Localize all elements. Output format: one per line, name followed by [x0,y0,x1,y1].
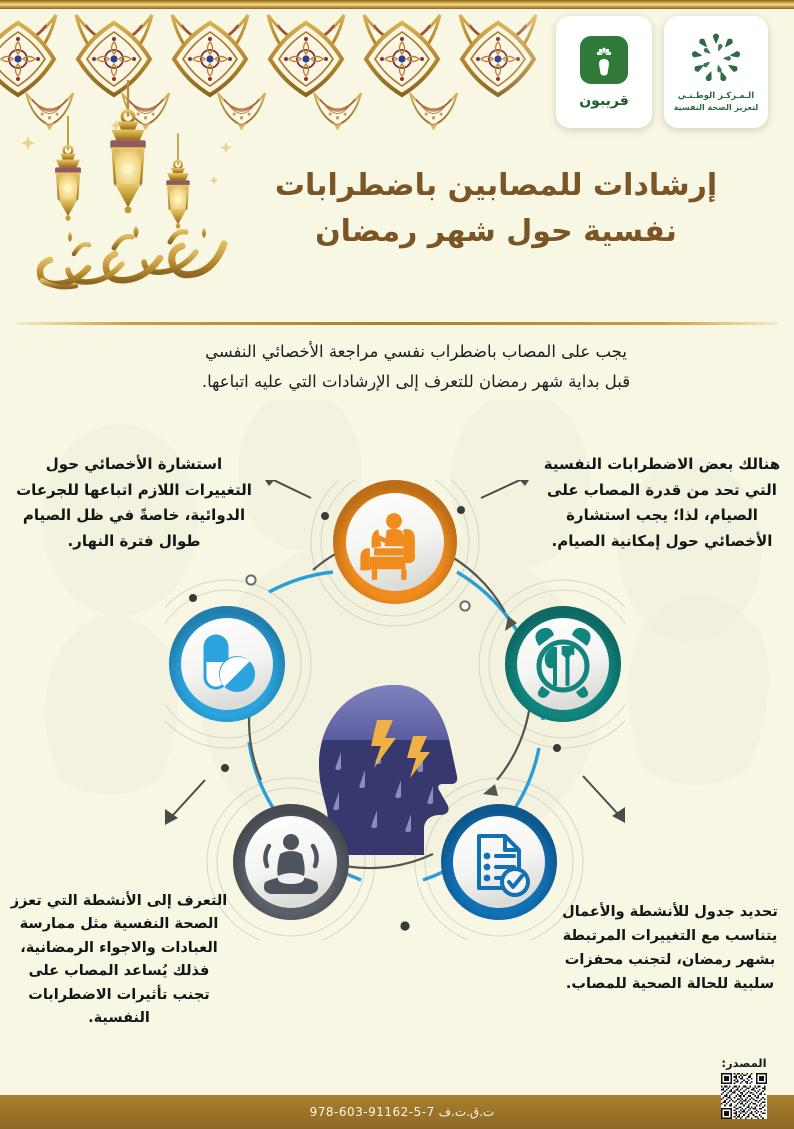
node-meal-timing[interactable] [505,606,621,722]
qareeboon-tile [580,36,628,84]
guidance-block-top-right: هنالك بعض الاضطرابات النفسية التي تحد من… [542,452,782,554]
infographic-poster: الـمـركـز الوطـنـي لتعزيز الصحة النفسية [0,0,794,1129]
ramadan-lanterns-decoration [10,80,260,280]
source-label: المصدر: [706,1056,782,1070]
qareeboon-person-icon [587,43,621,77]
gold-divider [16,322,778,325]
ncmh-emblem-icon [688,30,744,86]
top-gold-border [0,0,794,9]
isbn-number: 978-603-91162-5-7 [310,1105,435,1119]
node-checklist[interactable] [441,804,557,920]
node-meditation[interactable] [233,804,349,920]
intro-paragraph: يجب على المصاب باضطراب نفسي مراجعة الأخص… [190,337,642,397]
title-line-2: نفسية حول شهر رمضان [236,209,756,255]
ncmh-line-1: الـمـركـز الوطـنـي [674,91,759,102]
footer-bar: ت.ق.ت.ف 978-603-91162-5-7 [0,1095,794,1129]
deposit-label: ت.ق.ت.ف [439,1105,495,1119]
node-medication[interactable] [169,606,285,722]
ncmh-logo-text: الـمـركـز الوطـنـي لتعزيز الصحة النفسية [674,91,759,113]
ncmh-line-2: لتعزيز الصحة النفسية [674,103,759,114]
guidance-block-bottom-right: تحديد جدول للأنشطة والأعمال يتناسب مع ال… [556,900,784,996]
qareeboon-label: قريبون [579,93,629,109]
lantern-left [55,116,81,221]
qareeboon-app-logo[interactable]: قريبون [556,16,652,128]
title-line-1: إرشادات للمصابين باضطرابات [236,163,756,209]
qr-code-icon[interactable] [721,1073,767,1119]
logo-row: الـمـركـز الوطـنـي لتعزيز الصحة النفسية [556,16,768,128]
sparkles [21,120,232,185]
node-therapy[interactable] [333,480,457,604]
lantern-right [166,133,189,228]
ramadan-kareem-calligraphy [18,218,253,304]
footer-text: ت.ق.ت.ف 978-603-91162-5-7 [300,1105,495,1119]
source-section: المصدر: [706,1056,782,1119]
lantern-center [110,80,145,213]
national-center-mental-health-logo[interactable]: الـمـركـز الوطـنـي لتعزيز الصحة النفسية [664,16,768,128]
page-title: إرشادات للمصابين باضطرابات نفسية حول شهر… [236,163,756,254]
guidance-block-top-left: استشارة الأخصائي حول التغييرات اللازم ات… [10,452,258,554]
guidance-block-bottom-left: التعرف إلى الأنشطة التي تعزز الصحة النفس… [8,890,230,1031]
